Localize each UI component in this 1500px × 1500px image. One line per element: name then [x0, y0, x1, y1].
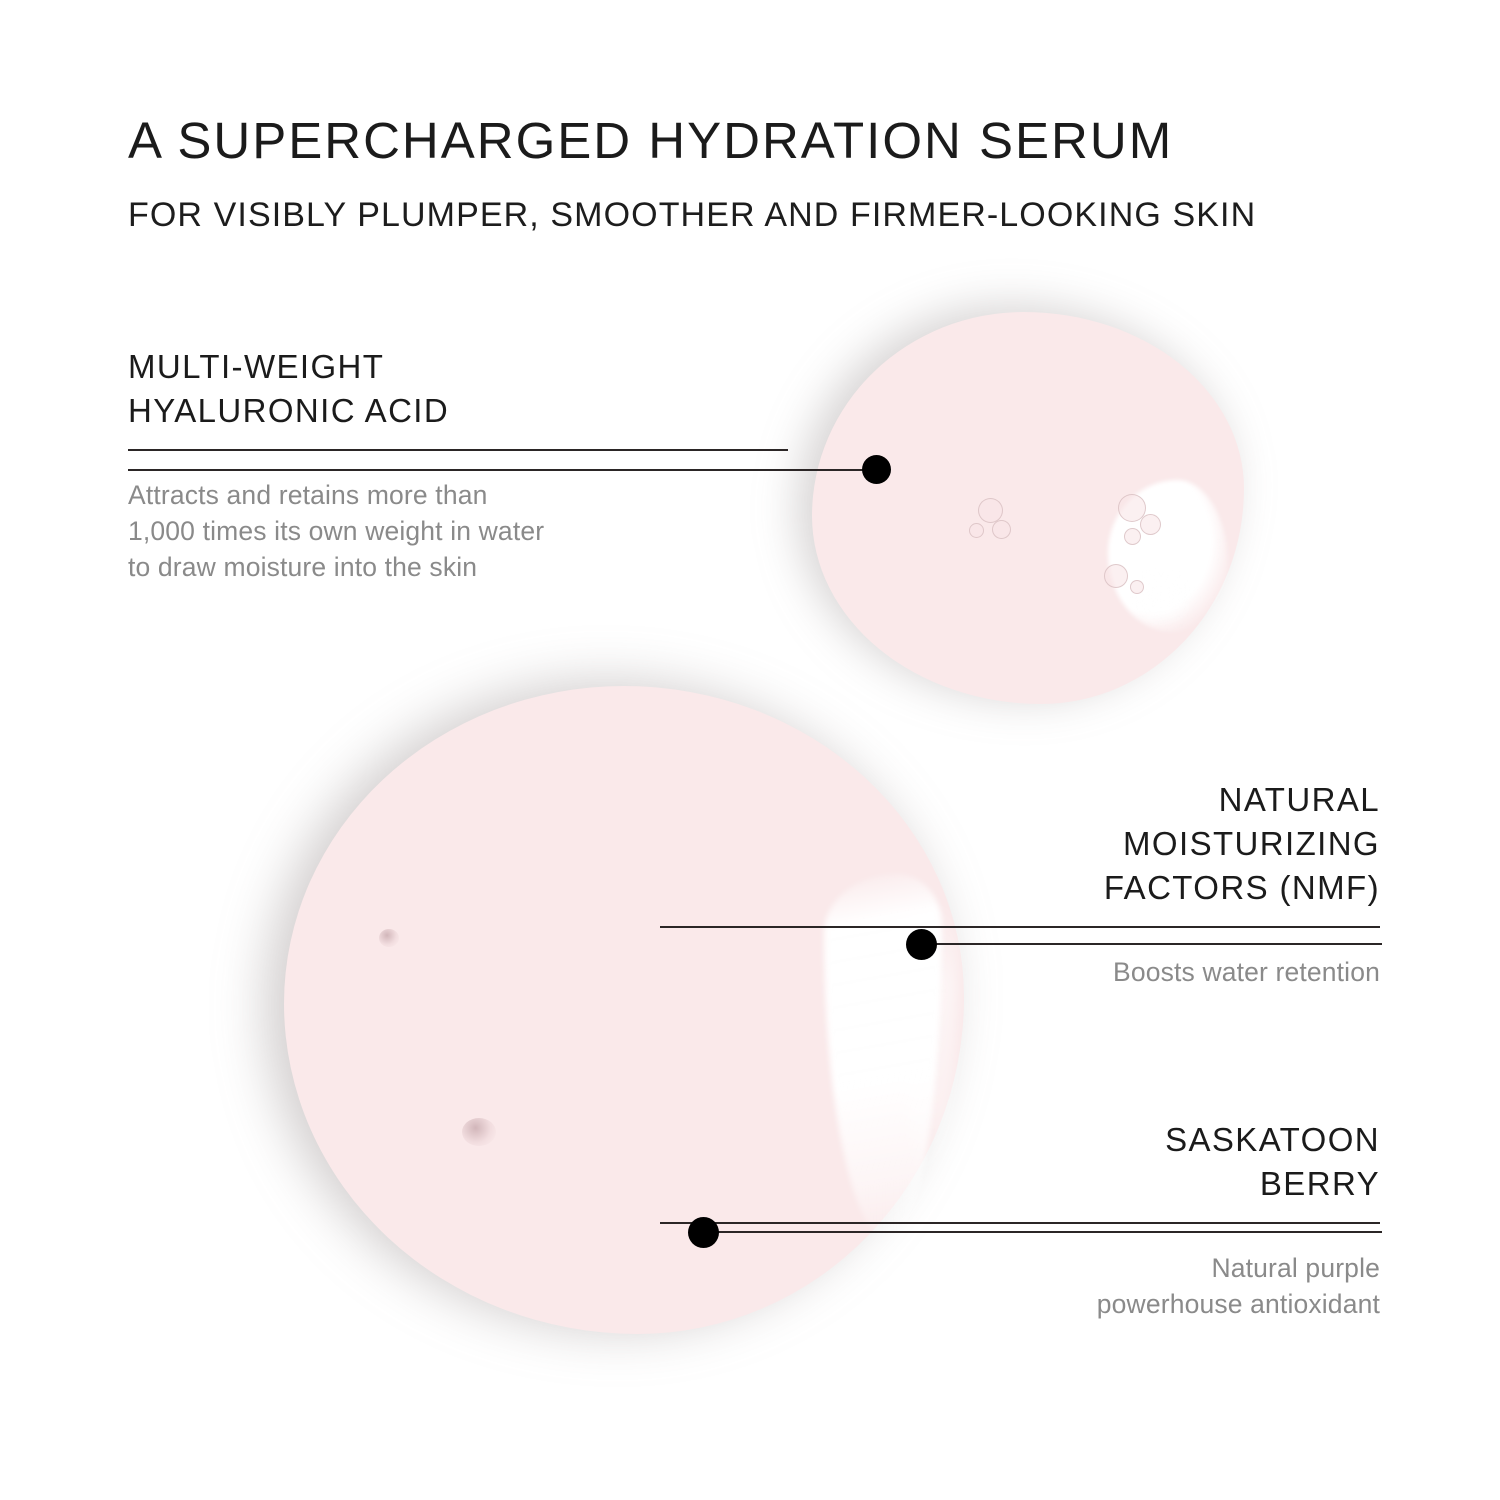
callout-divider	[660, 1222, 1380, 1224]
droplet-bubble-icon	[992, 520, 1011, 539]
page-subtitle: FOR VISIBLY PLUMPER, SMOOTHER AND FIRMER…	[128, 196, 1388, 235]
callout-natural-moisturizing-factors: NATURAL MOISTURIZING FACTORS (NMF) Boost…	[660, 778, 1380, 990]
callout-title: NATURAL MOISTURIZING FACTORS (NMF)	[660, 778, 1380, 910]
leader-line-saskatoon-berry	[712, 1231, 1382, 1233]
leader-dot-natural-moisturizing-factors	[906, 929, 937, 960]
leader-line-natural-moisturizing-factors	[930, 943, 1382, 945]
callout-body-line: Boosts water retention	[660, 954, 1380, 990]
leader-line-hyaluronic-acid	[128, 469, 880, 471]
callout-title: SASKATOON BERRY	[660, 1118, 1380, 1206]
callout-body-line: 1,000 times its own weight in water	[128, 513, 788, 549]
callout-body-line: Attracts and retains more than	[128, 477, 788, 513]
leader-dot-saskatoon-berry	[688, 1217, 719, 1248]
callout-title-line: HYALURONIC ACID	[128, 389, 788, 433]
callout-title-line: FACTORS (NMF)	[660, 866, 1380, 910]
droplet-dimple-icon	[379, 929, 399, 947]
droplet-bubble-icon	[1140, 514, 1161, 535]
callout-body: Attracts and retains more than 1,000 tim…	[128, 477, 788, 585]
callout-saskatoon-berry: SASKATOON BERRY Natural purple powerhous…	[660, 1118, 1380, 1322]
callout-divider	[128, 449, 788, 451]
droplet-bubble-icon	[1104, 564, 1128, 588]
callout-title-line: SASKATOON	[660, 1118, 1380, 1162]
droplet-highlight-small-secondary	[1126, 567, 1196, 627]
callout-body-line: powerhouse antioxidant	[660, 1286, 1380, 1322]
serum-droplet-small	[812, 312, 1244, 704]
callout-body: Natural purple powerhouse antioxidant	[660, 1250, 1380, 1322]
callout-body-line: Natural purple	[660, 1250, 1380, 1286]
callout-title-line: NATURAL	[660, 778, 1380, 822]
callout-title-line: BERRY	[660, 1162, 1380, 1206]
callout-divider	[660, 926, 1380, 928]
droplet-dimple-icon	[462, 1118, 496, 1146]
droplet-bubble-icon	[969, 523, 984, 538]
callout-hyaluronic-acid: MULTI-WEIGHT HYALURONIC ACID Attracts an…	[128, 345, 788, 585]
callout-title: MULTI-WEIGHT HYALURONIC ACID	[128, 345, 788, 433]
leader-dot-hyaluronic-acid	[862, 455, 891, 484]
droplet-bubble-icon	[1124, 528, 1141, 545]
callout-body: Boosts water retention	[660, 954, 1380, 990]
page-title: A SUPERCHARGED HYDRATION SERUM	[128, 112, 1388, 169]
infographic-canvas: A SUPERCHARGED HYDRATION SERUM FOR VISIB…	[0, 0, 1500, 1500]
droplet-bubble-icon	[1130, 580, 1144, 594]
callout-title-line: MOISTURIZING	[660, 822, 1380, 866]
callout-title-line: MULTI-WEIGHT	[128, 345, 788, 389]
callout-body-line: to draw moisture into the skin	[128, 549, 788, 585]
